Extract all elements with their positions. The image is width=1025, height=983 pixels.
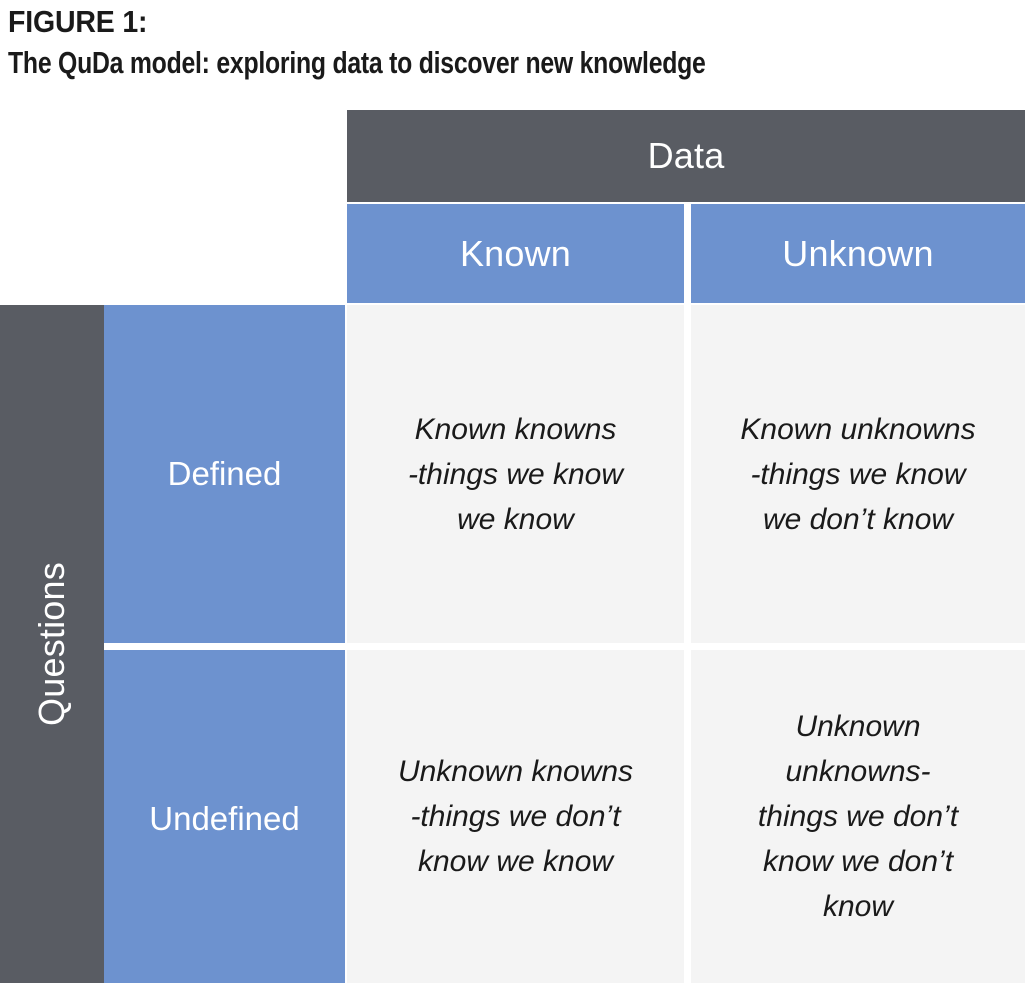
cell-undefined-known: Unknown knowns -things we don’t know we …: [347, 650, 684, 983]
row-axis-label-text: Questions: [31, 562, 73, 726]
cell-defined-known: Known knowns -things we know we know: [347, 305, 684, 643]
cell-defined-unknown: Known unknowns -things we know we don’t …: [691, 305, 1025, 643]
figure-page: FIGURE 1: The QuDa model: exploring data…: [0, 0, 1025, 983]
quda-matrix: Data Known Unknown Questions Defined Und…: [0, 0, 1025, 983]
column-header-known: Known: [347, 204, 684, 303]
cell-undefined-unknown: Unknown unknowns- things we don’t know w…: [691, 650, 1025, 983]
row-header-defined: Defined: [104, 305, 345, 643]
row-header-undefined: Undefined: [104, 650, 345, 983]
column-axis-label-data: Data: [347, 110, 1025, 202]
row-axis-label-questions: Questions: [0, 305, 104, 983]
column-header-unknown: Unknown: [691, 204, 1025, 303]
